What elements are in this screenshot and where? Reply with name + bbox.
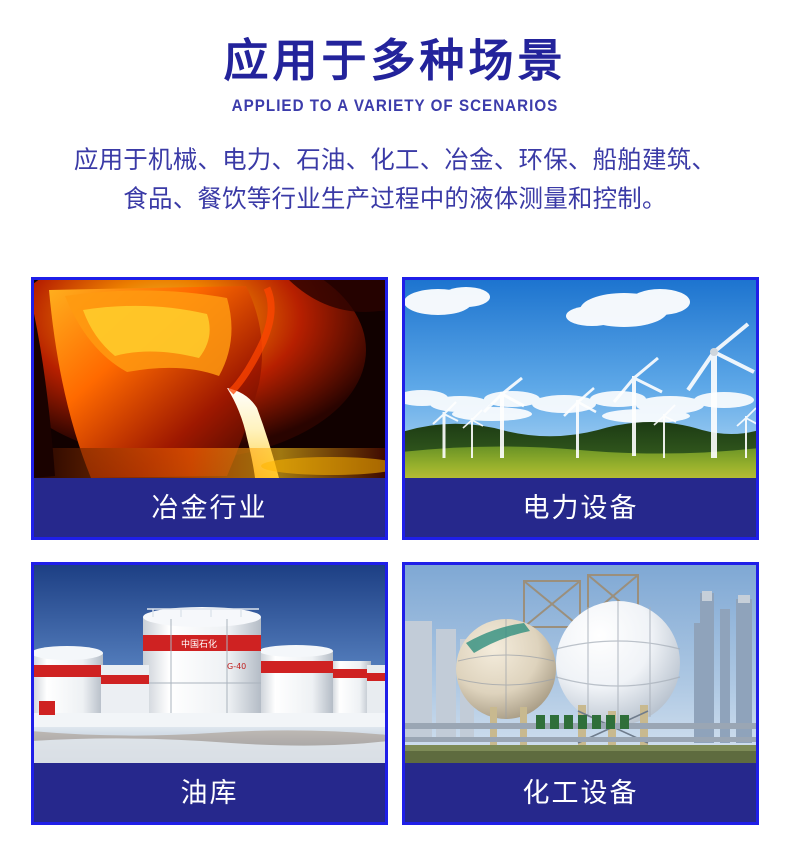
page-title: 应用于多种场景 bbox=[0, 36, 790, 86]
page-subtitle: APPLIED TO A VARIETY OF SCENARIOS bbox=[32, 97, 759, 116]
chemical-plant-spheres-photo bbox=[405, 565, 756, 763]
wind-farm-illustration bbox=[405, 280, 756, 478]
scenario-card-caption: 冶金行业 bbox=[34, 478, 385, 537]
description-line-2: 食品、餐饮等行业生产过程中的液体测量和控制。 bbox=[40, 180, 750, 219]
wind-turbine-farm-photo bbox=[405, 280, 756, 478]
section-header: 应用于多种场景 APPLIED TO A VARIETY OF SCENARIO… bbox=[0, 0, 790, 219]
oil-depot-illustration: 中国石化 G-40 bbox=[34, 565, 385, 763]
scenario-card-caption: 电力设备 bbox=[405, 478, 756, 537]
oil-storage-tanks-photo: 中国石化 G-40 bbox=[34, 565, 385, 763]
scenario-card[interactable]: 化工设备 bbox=[402, 562, 759, 825]
description-line-1: 应用于机械、电力、石油、化工、冶金、环保、船舶建筑、 bbox=[40, 141, 750, 180]
svg-text:G-40: G-40 bbox=[227, 662, 246, 671]
scenario-card-caption: 油库 bbox=[34, 763, 385, 822]
scenario-card[interactable]: 冶金行业 bbox=[31, 277, 388, 540]
section-description: 应用于机械、电力、石油、化工、冶金、环保、船舶建筑、 食品、餐饮等行业生产过程中… bbox=[0, 141, 790, 218]
molten-metal-pouring-photo bbox=[34, 280, 385, 478]
chemical-plant-illustration bbox=[405, 565, 756, 763]
svg-text:中国石化: 中国石化 bbox=[181, 638, 217, 650]
scenario-card[interactable]: 中国石化 G-40 bbox=[31, 562, 388, 825]
molten-metal-illustration bbox=[34, 280, 385, 478]
scenario-card-caption: 化工设备 bbox=[405, 763, 756, 822]
scenarios-section: 应用于多种场景 APPLIED TO A VARIETY OF SCENARIO… bbox=[0, 0, 790, 863]
scenario-card[interactable]: 电力设备 bbox=[402, 277, 759, 540]
scenario-card-grid: 冶金行业 bbox=[31, 277, 759, 825]
